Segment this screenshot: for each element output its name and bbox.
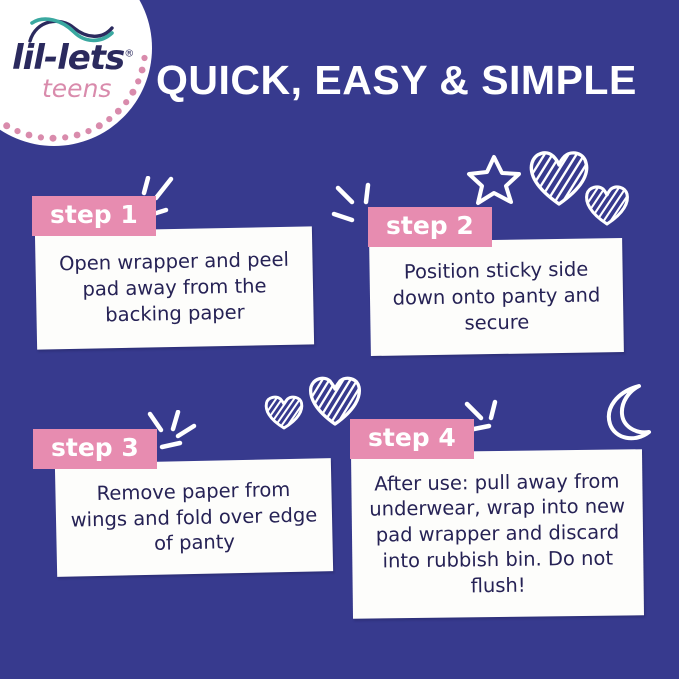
star-outline-icon: [466, 152, 522, 206]
step-tab-3: step 3: [33, 429, 157, 469]
step-card-1: Open wrapper and peel pad away from the …: [35, 226, 314, 349]
heart-sketch-icon: [526, 146, 592, 208]
crescent-moon-icon: [597, 382, 659, 444]
heart-sketch-small-icon: [583, 182, 631, 228]
brand-subline: teens: [42, 74, 111, 103]
registered-mark: ®: [124, 49, 133, 60]
step-card-4: After use: pull away from underwear, wra…: [351, 449, 644, 619]
heart-sketch-small-icon: [263, 392, 305, 432]
page-title: QUICK, EASY & SIMPLE: [156, 57, 656, 104]
step-tab-2: step 2: [368, 207, 492, 247]
brand-name: lil-lets®: [12, 38, 133, 78]
brand-name-text: lil-lets: [12, 38, 124, 78]
brand-logo-lockup: lil-lets® teens: [6, 8, 146, 138]
step-tab-1: step 1: [32, 196, 156, 236]
step-card-2: Position sticky side down onto panty and…: [369, 238, 624, 356]
step-tab-4: step 4: [350, 419, 474, 459]
step-card-3: Remove paper from wings and fold over ed…: [55, 458, 333, 577]
poster-canvas: lil-lets® teens QUICK, EASY & SIMPLE: [0, 0, 679, 679]
